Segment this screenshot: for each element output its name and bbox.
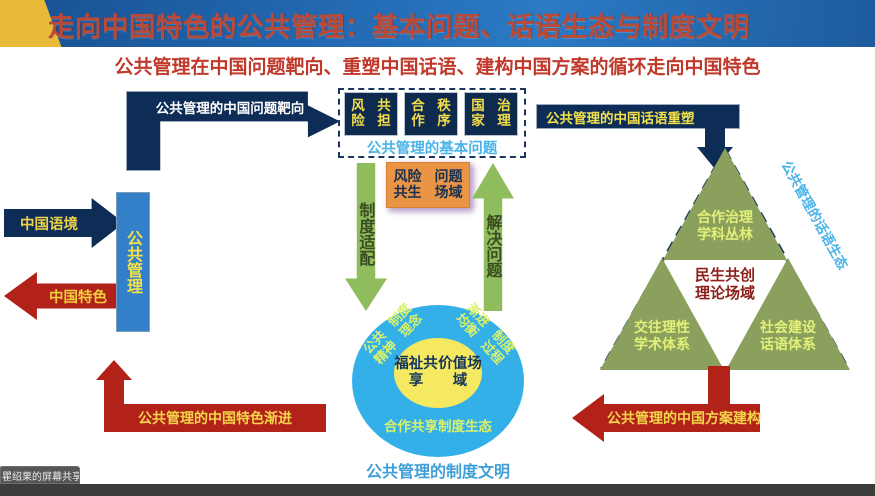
green-arrow-problem-solving-label: 解决问题 [478, 192, 506, 300]
issue-box-cooperative-order: 合作 秩序 [404, 92, 458, 136]
issue-box-risk-sharing: 风险 共担 [344, 92, 398, 136]
circle-label-cooperative-sharing-line1: 合作共享 [384, 419, 438, 435]
subtri-top-line2: 学科丛林 [697, 227, 753, 243]
issue-box-state-governance-line1: 国家 [465, 99, 491, 129]
flow-arrow-problem-targeting-label: 公共管理的中国问题靶向 [130, 93, 330, 121]
issue-box-state-governance: 国家 治理 [464, 92, 518, 136]
screen-share-label[interactable]: 瞿绍果的屏幕共享 [0, 466, 80, 484]
issue-box-cooperative-order-line2: 秩序 [431, 99, 457, 129]
circle-inner-core-label: 福祉共享 价值场域 [394, 338, 482, 408]
circle-label-cooperative-sharing: 合作共享 制度生态 [378, 408, 498, 446]
problem-field-line2: 问题场域 [428, 169, 469, 201]
problem-field-line1: 风险共生 [387, 169, 428, 201]
slide-title-bar: 走向中国特色的公共管理：基本问题、话语生态与制度文明 [0, 0, 875, 47]
slide-subtitle: 公共管理在中国问题靶向、重塑中国话语、建构中国方案的循环走向中国特色 [0, 50, 875, 80]
issue-box-risk-sharing-line1: 风险 [345, 99, 371, 129]
triangle-center-label: 民生共创 理论场域 [683, 266, 767, 308]
circle-caption: 公共管理的制度文明 [340, 458, 536, 482]
screen-share-bar [0, 484, 875, 496]
flow-arrow-discourse-label: 公共管理的中国话语重塑 [540, 104, 720, 129]
page-title: 走向中国特色的公共管理：基本问题、话语生态与制度文明 [48, 2, 858, 46]
discourse-ecology-triangle: 合作治理 学科丛林 交往理性 学术体系 社会建设 话语体系 民生共创 理论场域 … [600, 148, 850, 370]
flow-arrow-discourse-stem [705, 126, 725, 150]
box-risk-symbiosis-problem-field: 风险共生 问题场域 [386, 162, 470, 208]
red-arrow-scheme-label: 公共管理的中国方案建构 [602, 404, 766, 432]
green-arrow-institutional-adaptation-label: 制度适配 [351, 178, 379, 290]
arrow-chinese-context-label: 中国语境 [6, 198, 92, 248]
tri-center-line1: 民生共创 [695, 266, 755, 284]
red-arrow-scheme-head-icon [572, 394, 604, 442]
subtriangle-cooperative-governance-label: 合作治理 学科丛林 [683, 210, 767, 250]
circle-core-line2: 价值场域 [438, 356, 482, 390]
red-arrow-progressive-label: 公共管理的中国特色渐进 [108, 404, 322, 432]
basic-issues-group-label: 公共管理的基本问题 [338, 136, 526, 158]
subtri-bl-line2: 学术体系 [634, 337, 690, 353]
subtriangle-communicative-rationality-label: 交往理性 学术体系 [620, 320, 704, 360]
issue-box-cooperative-order-line1: 合作 [405, 99, 431, 129]
subtri-bl-line1: 交往理性 [634, 320, 690, 336]
subtriangle-social-construction-label: 社会建设 话语体系 [746, 320, 830, 360]
circle-core-line1: 福祉共享 [394, 356, 438, 390]
subtri-br-line1: 社会建设 [760, 320, 816, 336]
subtri-top-line1: 合作治理 [697, 210, 753, 226]
issue-box-risk-sharing-line2: 共担 [371, 99, 397, 129]
box-public-administration-label: 公共管理 [116, 192, 150, 332]
circle-label-cooperative-sharing-line2: 制度生态 [438, 419, 492, 435]
subtri-br-line2: 话语体系 [760, 337, 816, 353]
arrow-chinese-characteristics-label: 中国特色 [32, 272, 124, 320]
issue-box-state-governance-line2: 治理 [491, 99, 517, 129]
tri-center-line2: 理论场域 [695, 284, 755, 302]
